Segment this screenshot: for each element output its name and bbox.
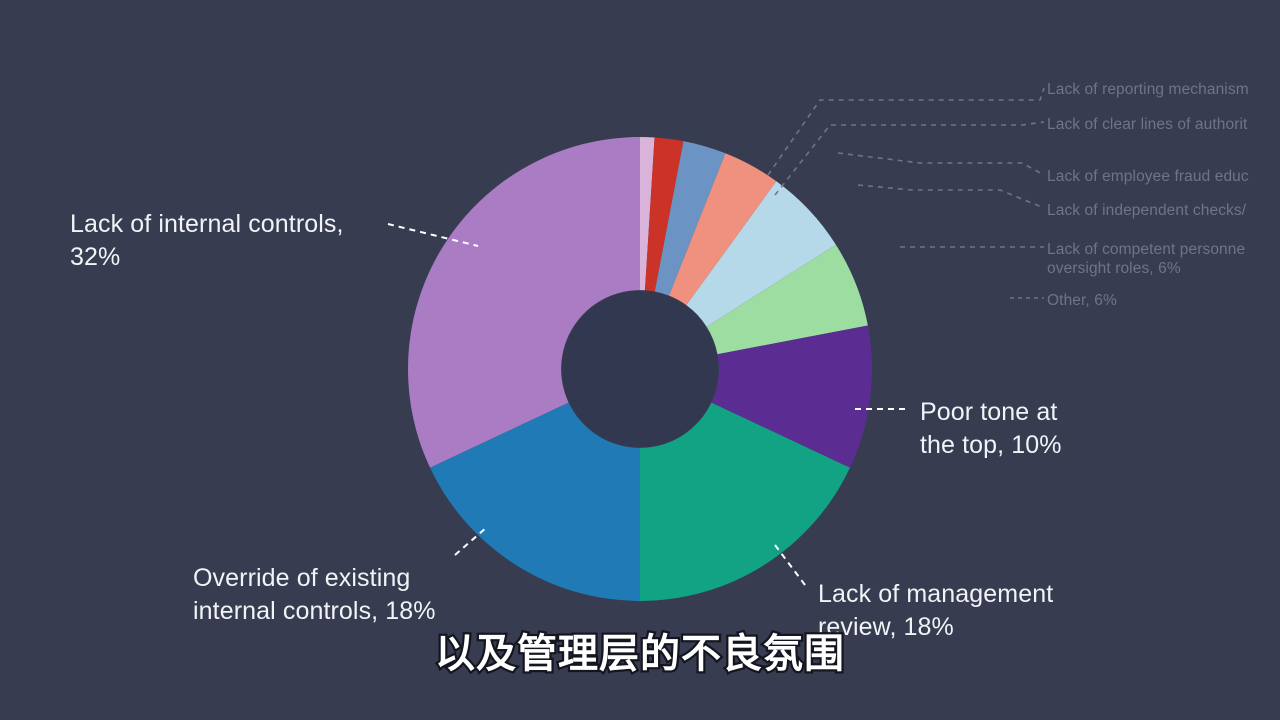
leader-line [838,153,1044,175]
callout-lack-of-internal-controls: Lack of internal controls, 32% [70,208,400,274]
label-lack-of-competent-personnel: Lack of competent personne oversight rol… [1047,240,1245,279]
leader-line [858,185,1044,208]
label-lack-of-reporting-mechanism: Lack of reporting mechanism [1047,80,1249,99]
callout-poor-tone-at-the-top: Poor tone at the top, 10% [920,396,1140,462]
subtitle-caption: 以及管理层的不良氛围 [0,634,1280,674]
label-lack-of-clear-lines-of-authority: Lack of clear lines of authorit [1047,115,1247,134]
leader-line [768,88,1044,175]
callout-override-of-existing-internal-controls: Override of existing internal controls, … [193,562,493,628]
donut-hole [562,291,718,447]
leader-line [775,122,1044,195]
leader-line [455,527,487,555]
label-lack-of-independent-checks: Lack of independent checks/ [1047,201,1246,220]
label-other: Other, 6% [1047,291,1117,310]
label-lack-of-employee-fraud-education: Lack of employee fraud educ [1047,167,1249,186]
chart-canvas: Lack of internal controls, 32% Poor tone… [0,0,1280,720]
